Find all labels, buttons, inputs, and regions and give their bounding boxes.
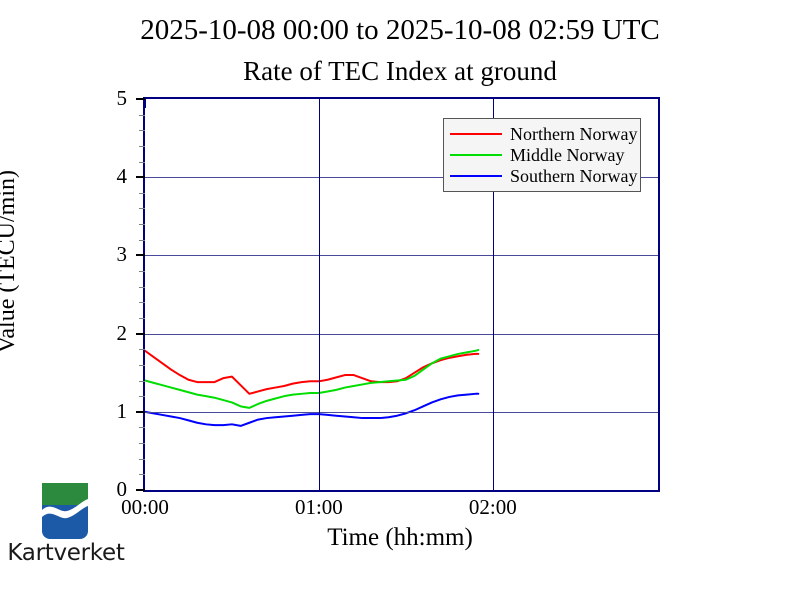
chart-legend[interactable]: Northern NorwayMiddle NorwaySouthern Nor… [443,118,641,192]
y-tick-major [136,411,145,413]
y-tick-minor [139,396,145,397]
legend-item-label: Southern Norway [510,167,637,185]
page-subtitle: Rate of TEC Index at ground [0,56,800,87]
y-tick-minor [139,381,145,382]
y-tick-major [136,489,145,491]
page-title: 2025-10-08 00:00 to 2025-10-08 02:59 UTC [0,14,800,47]
chart-canvas: 2025-10-08 00:00 to 2025-10-08 02:59 UTC… [0,0,800,600]
y-tick-major [136,254,145,256]
y-tick-minor [139,365,145,366]
legend-color-swatch [450,154,502,156]
gridline-horizontal [145,412,658,413]
legend-item-label: Northern Norway [510,125,637,143]
legend-item[interactable]: Middle Norway [450,144,634,165]
y-tick-minor [139,287,145,288]
y-tick-minor [139,115,145,116]
y-tick-minor [139,474,145,475]
x-tick-major [145,99,146,108]
y-tick-minor [139,302,145,303]
y-tick-minor [139,208,145,209]
y-tick-minor [139,130,145,131]
y-tick-label: 5 [0,86,127,111]
x-tick-major [493,99,494,108]
legend-item[interactable]: Northern Norway [450,123,634,144]
legend-item[interactable]: Southern Norway [450,165,634,186]
legend-color-swatch [450,175,502,177]
series-line [145,350,478,408]
y-tick-major [136,98,145,100]
y-tick-label: 1 [0,399,127,424]
gridline-horizontal [145,255,658,256]
y-tick-major [136,176,145,178]
series-line [145,351,478,394]
y-tick-label: 4 [0,164,127,189]
kartverket-logo-text: Kartverket [6,540,126,566]
y-tick-minor [139,443,145,444]
y-tick-minor [139,162,145,163]
y-tick-minor [139,459,145,460]
y-tick-label: 2 [0,321,127,346]
kartverket-logo: Kartverket [6,480,126,592]
gridline-vertical [319,99,320,490]
y-tick-minor [139,224,145,225]
x-tick-label: 02:00 [433,495,553,520]
y-tick-minor [139,349,145,350]
y-tick-minor [139,193,145,194]
y-tick-minor [139,146,145,147]
y-tick-minor [139,271,145,272]
y-tick-minor [139,427,145,428]
y-tick-minor [139,240,145,241]
x-tick-major [319,99,320,108]
x-tick-label: 01:00 [259,495,379,520]
legend-color-swatch [450,133,502,135]
legend-item-label: Middle Norway [510,146,624,164]
series-line [145,394,478,426]
y-tick-label: 3 [0,242,127,267]
kartverket-logo-icon [42,483,88,539]
y-tick-minor [139,318,145,319]
gridline-horizontal [145,334,658,335]
y-tick-major [136,333,145,335]
